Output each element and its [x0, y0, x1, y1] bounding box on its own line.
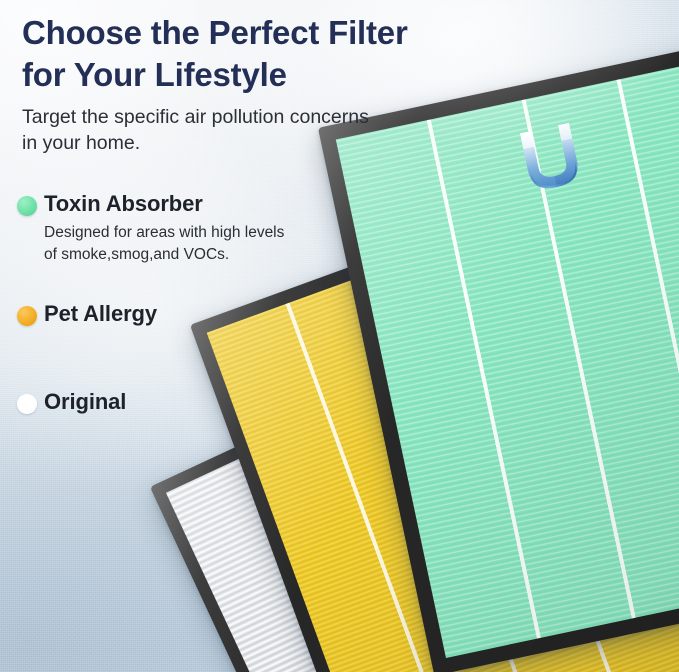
list-item-toxin-absorber[interactable]: Toxin Absorber Designed for areas with h… [0, 190, 360, 266]
filter-option-label: Original [44, 388, 360, 417]
list-item-original[interactable]: Original [0, 388, 360, 417]
filter-option-label: Pet Allergy [44, 300, 360, 329]
marketing-banner: Choose the Perfect Filter for Your Lifes… [0, 0, 679, 672]
white-circle-bullet-icon [17, 394, 37, 414]
green-circle-bullet-icon [17, 196, 37, 216]
filter-option-label: Toxin Absorber [44, 190, 360, 219]
orange-circle-bullet-icon [17, 306, 37, 326]
page-subtitle: Target the specific air pollution concer… [0, 95, 560, 156]
filter-option-list: Toxin Absorber Designed for areas with h… [0, 190, 360, 417]
headline-block: Choose the Perfect Filter for Your Lifes… [0, 0, 560, 157]
page-title: Choose the Perfect Filter for Your Lifes… [0, 0, 560, 95]
filter-option-description: Designed for areas with high levels of s… [44, 219, 334, 266]
list-item-pet-allergy[interactable]: Pet Allergy [0, 300, 360, 329]
